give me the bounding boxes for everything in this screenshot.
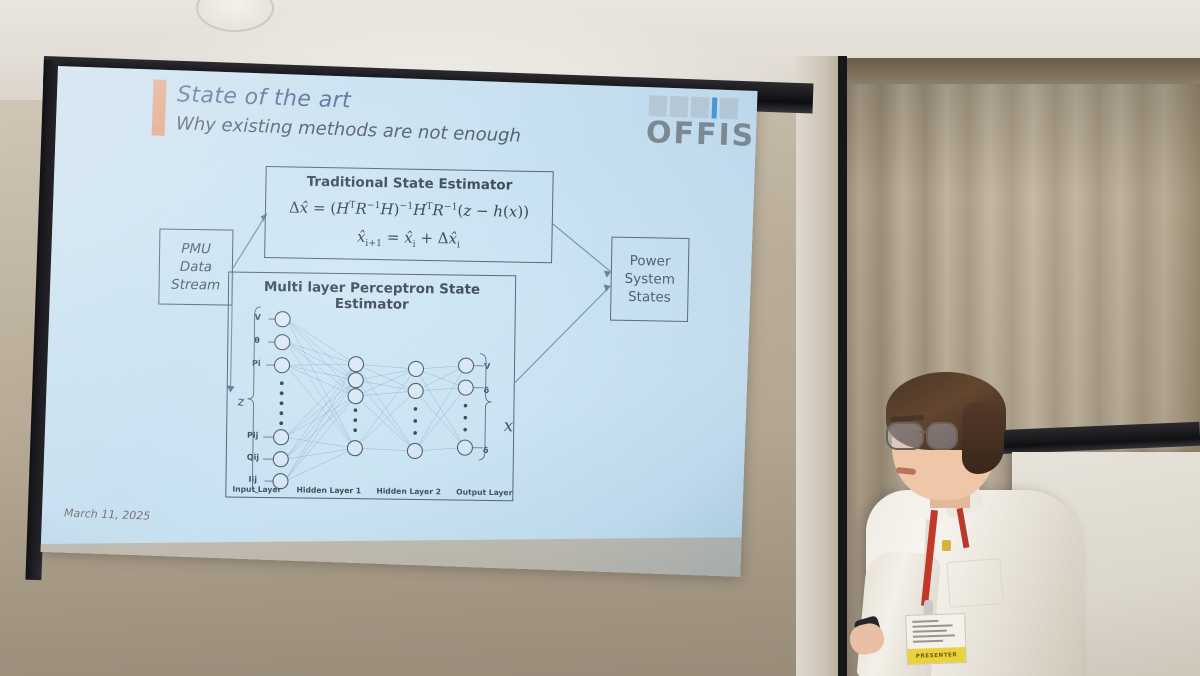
presenter: PRESENTER: [856, 372, 1106, 676]
conference-room-scene: State of the art Why existing methods ar…: [0, 0, 1200, 676]
presenter-glasses: [886, 422, 972, 448]
traditional-formula-2: x̂i+1 = x̂i + Δx̂i: [265, 226, 551, 252]
badge-role-label: PRESENTER: [916, 652, 958, 659]
glasses-lens-right: [926, 422, 958, 450]
badge-role-strip: PRESENTER: [907, 647, 965, 664]
layer-label-hidden-2: Hidden Layer 2: [376, 486, 441, 496]
mlp-network-diagram: z x V θ Pi Pij Qij Iij V δ δ: [226, 297, 517, 501]
layer-label-output: Output Layer: [456, 488, 512, 498]
glasses-bridge: [919, 431, 928, 433]
projector-screen: State of the art Why existing methods ar…: [41, 66, 758, 577]
pillar-edge: [838, 56, 847, 676]
traditional-state-estimator-box: Traditional State Estimator Δx̂ = (HTR−1…: [264, 166, 554, 263]
arrowhead-states-1: [604, 271, 611, 278]
mlp-state-estimator-box: Multi layer Perceptron State Estimator z…: [225, 272, 516, 502]
mlp-graph: [226, 297, 517, 501]
arrow-pmu-to-traditional: [233, 212, 267, 269]
arrowhead-states-2: [603, 285, 610, 292]
traditional-formula-1: Δx̂ = (HTR−1H)−1HTR−1(z − h(x)): [266, 198, 552, 221]
arrow-mlp-to-states: [515, 283, 611, 386]
presentation-slide: State of the art Why existing methods ar…: [41, 66, 758, 577]
presenter-badge: PRESENTER: [905, 613, 967, 665]
wall-pillar: [796, 56, 842, 676]
arrow-traditional-to-states: [551, 224, 613, 272]
layer-label-input: Input Layer: [232, 485, 281, 495]
shirt-logo-patch: [942, 540, 951, 551]
shirt-pocket: [946, 558, 1003, 608]
traditional-heading: Traditional State Estimator: [266, 173, 552, 194]
layer-label-hidden-1: Hidden Layer 1: [297, 485, 362, 495]
badge-text-lines: [912, 619, 959, 646]
glasses-lens-left: [886, 422, 924, 450]
